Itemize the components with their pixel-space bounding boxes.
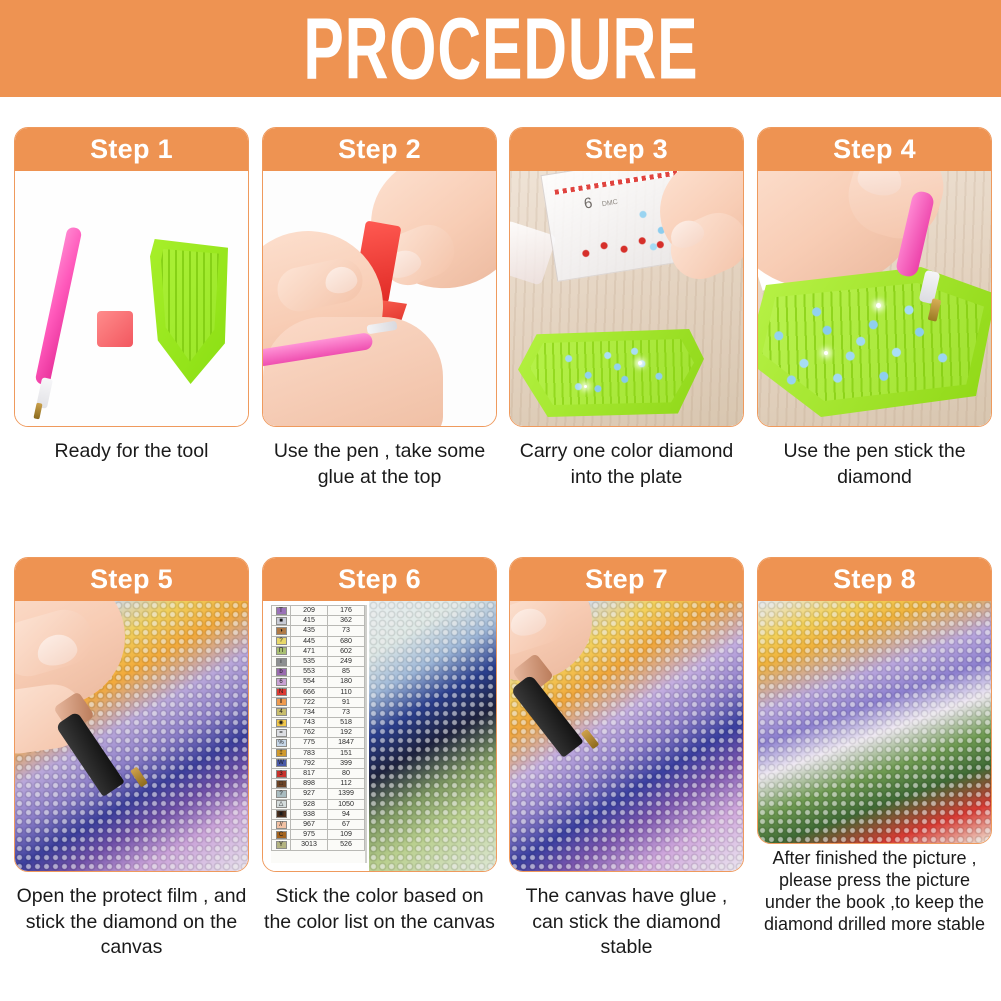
- color-swatch-icon: △: [276, 800, 287, 808]
- color-chart-body: T209176■415362◑43573?445680Π471602ı53524…: [272, 606, 365, 851]
- procedure-infographic: PROCEDURE Step 1: [0, 0, 1001, 1001]
- color-swatch-icon: ?: [276, 790, 287, 798]
- color-chart-row: ‖72291: [272, 697, 365, 707]
- color-chart-row: b55385: [272, 667, 365, 677]
- step-7-frame: Step 7: [509, 557, 744, 872]
- color-chart-row: Y3013526: [272, 840, 365, 850]
- color-chart-code-cell: 928: [291, 799, 328, 809]
- color-chart-count-cell: 91: [328, 697, 365, 707]
- step-6-header-label: Step 6: [338, 564, 421, 595]
- color-swatch-icon: ?: [276, 637, 287, 645]
- step-1-caption: Ready for the tool: [14, 439, 249, 465]
- color-chart-code-cell: 535: [291, 656, 328, 666]
- color-chart-code-cell: 666: [291, 687, 328, 697]
- color-chart-symbol-cell: Y: [272, 840, 291, 850]
- step-card-6: Step 6 T209176■415362◑43573?445680Π47160…: [262, 557, 497, 935]
- color-chart-code-cell: 775: [291, 738, 328, 748]
- color-chart-count-cell: 67: [328, 819, 365, 829]
- step-5-header-label: Step 5: [90, 564, 173, 595]
- color-chart-row: ?445680: [272, 636, 365, 646]
- color-chart-code-cell: 817: [291, 769, 328, 779]
- color-chart-row: T209176: [272, 606, 365, 616]
- color-chart-row: 473473: [272, 707, 365, 717]
- color-chart-symbol-cell: ■: [272, 616, 291, 626]
- color-chart-symbol-cell: ?: [272, 636, 291, 646]
- step-3-caption: Carry one color diamond into the plate: [509, 439, 744, 490]
- diamond-canvas-icon: [369, 601, 496, 871]
- color-chart-code-cell: 975: [291, 830, 328, 840]
- step-8-frame: Step 8: [757, 557, 992, 844]
- color-chart-count-cell: 73: [328, 626, 365, 636]
- step-2-caption: Use the pen , take some glue at the top: [262, 439, 497, 490]
- color-swatch-icon: ◉: [276, 719, 287, 727]
- color-chart-count-cell: 362: [328, 616, 365, 626]
- color-chart-symbol-cell: //: [272, 819, 291, 829]
- color-chart-symbol-cell: b: [272, 667, 291, 677]
- left-palm-icon: [263, 317, 443, 426]
- step-card-3: Step 3 6 DMC: [509, 127, 744, 490]
- color-chart-symbol-cell: ◑: [272, 626, 291, 636]
- color-chart-code-cell: 3013: [291, 840, 328, 850]
- color-chart-code-cell: 722: [291, 697, 328, 707]
- color-chart-count-cell: 94: [328, 809, 365, 819]
- color-swatch-icon: 6: [276, 678, 287, 686]
- color-swatch-icon: □: [276, 780, 287, 788]
- color-chart-row: //96767: [272, 819, 365, 829]
- color-chart-count-cell: 249: [328, 656, 365, 666]
- step-5-caption: Open the protect film , and stick the di…: [14, 884, 249, 961]
- color-chart-count-cell: 518: [328, 718, 365, 728]
- color-swatch-icon: ‡: [276, 749, 287, 757]
- color-chart-code-cell: 734: [291, 707, 328, 717]
- color-chart-row: 381780: [272, 769, 365, 779]
- color-chart-code-cell: 783: [291, 748, 328, 758]
- color-chart-symbol-cell: Π: [272, 646, 291, 656]
- step-1-photo: [15, 171, 248, 426]
- pink-pen-icon: [35, 226, 83, 386]
- color-swatch-icon: 4: [276, 708, 287, 716]
- color-chart-symbol-cell: =: [272, 728, 291, 738]
- color-chart: T209176■415362◑43573?445680Π471602ı53524…: [271, 605, 367, 863]
- step-8-header-label: Step 8: [833, 564, 916, 595]
- color-chart-code-cell: 898: [291, 779, 328, 789]
- color-chart-symbol-cell: ı: [272, 656, 291, 666]
- color-chart-count-cell: 399: [328, 758, 365, 768]
- color-chart-symbol-cell: 3: [272, 769, 291, 779]
- step-2-frame: Step 2: [262, 127, 497, 427]
- partial-canvas-icon: [369, 601, 496, 871]
- page-title: PROCEDURE: [303, 0, 698, 99]
- step-7-header-label: Step 7: [585, 564, 668, 595]
- color-chart-row: %7751847: [272, 738, 365, 748]
- color-swatch-icon: ‖: [276, 698, 287, 706]
- color-chart-code-cell: 762: [291, 728, 328, 738]
- blue-diamonds-icon: [762, 299, 972, 391]
- color-chart-row: ◉743518: [272, 718, 365, 728]
- step-1-header: Step 1: [15, 128, 248, 171]
- step-card-7: Step 7 The canvas have glue , can stick …: [509, 557, 744, 961]
- color-chart-symbol-cell: %: [272, 738, 291, 748]
- step-8-header: Step 8: [758, 558, 991, 601]
- step-1-frame: Step 1: [14, 127, 249, 427]
- color-chart-code-cell: 967: [291, 819, 328, 829]
- steps-grid: Step 1 Ready for the tool: [0, 97, 1001, 1001]
- color-swatch-icon: ■: [276, 617, 287, 625]
- sparkle-icon: [876, 303, 881, 308]
- color-chart-row: ı535249: [272, 656, 365, 666]
- color-swatch-icon: Π: [276, 647, 287, 655]
- color-chart-count-cell: 151: [328, 748, 365, 758]
- step-3-frame: Step 3 6 DMC: [509, 127, 744, 427]
- wax-square-icon: [97, 311, 133, 347]
- color-chart-count-cell: 192: [328, 728, 365, 738]
- color-chart-symbol-cell: W: [272, 758, 291, 768]
- color-swatch-icon: 3: [276, 770, 287, 778]
- color-chart-row: 6554180: [272, 677, 365, 687]
- step-7-header: Step 7: [510, 558, 743, 601]
- color-chart-code-cell: 938: [291, 809, 328, 819]
- step-2-header-label: Step 2: [338, 134, 421, 165]
- color-chart-row: W792399: [272, 758, 365, 768]
- step-7-caption: The canvas have glue , can stick the dia…: [509, 884, 744, 961]
- color-chart-symbol-cell: □: [272, 779, 291, 789]
- step-5-photo: [15, 601, 248, 871]
- color-chart-symbol-cell: ?: [272, 789, 291, 799]
- step-3-header: Step 3: [510, 128, 743, 171]
- color-swatch-icon: //: [276, 821, 287, 829]
- step-card-8: Step 8 After finished the picture , plea…: [757, 557, 992, 936]
- step-8-caption: After finished the picture , please pres…: [757, 848, 992, 936]
- step-1-header-label: Step 1: [90, 134, 173, 165]
- step-card-2: Step 2: [262, 127, 497, 490]
- color-chart-code-cell: 435: [291, 626, 328, 636]
- step-3-photo: 6 DMC: [510, 171, 743, 426]
- color-chart-count-cell: 73: [328, 707, 365, 717]
- color-chart-symbol-cell: N: [272, 687, 291, 697]
- color-chart-symbol-cell: C: [272, 830, 291, 840]
- color-chart-symbol-cell: 4: [272, 707, 291, 717]
- color-chart-row: ◑43573: [272, 626, 365, 636]
- color-chart-count-cell: 1050: [328, 799, 365, 809]
- color-chart-symbol-cell: ◉: [272, 718, 291, 728]
- step-card-5: Step 5 Open the protect film , and stick…: [14, 557, 249, 961]
- color-chart-count-cell: 526: [328, 840, 365, 850]
- color-chart-count-cell: 180: [328, 677, 365, 687]
- color-chart-count-cell: 109: [328, 830, 365, 840]
- color-chart-row: ?9271399: [272, 789, 365, 799]
- color-swatch-icon: C: [276, 831, 287, 839]
- color-chart-table: T209176■415362◑43573?445680Π471602ı53524…: [271, 605, 365, 851]
- color-chart-code-cell: 445: [291, 636, 328, 646]
- step-card-4: Step 4: [757, 127, 992, 490]
- color-chart-code-cell: 471: [291, 646, 328, 656]
- color-chart-count-cell: 112: [328, 779, 365, 789]
- step-4-header-label: Step 4: [833, 134, 916, 165]
- color-chart-symbol-cell: 6: [272, 677, 291, 687]
- color-chart-row: □898112: [272, 779, 365, 789]
- color-chart-row: ‡783151: [272, 748, 365, 758]
- blue-diamonds-icon: [554, 343, 676, 395]
- color-chart-row: △9281050: [272, 799, 365, 809]
- color-chart-count-cell: 176: [328, 606, 365, 616]
- color-chart-code-cell: 209: [291, 606, 328, 616]
- color-chart-count-cell: 1847: [328, 738, 365, 748]
- color-chart-count-cell: 85: [328, 667, 365, 677]
- color-chart-symbol-cell: T: [272, 606, 291, 616]
- color-chart-row: ■415362: [272, 616, 365, 626]
- color-chart-count-cell: 602: [328, 646, 365, 656]
- step-2-header: Step 2: [263, 128, 496, 171]
- color-swatch-icon: W: [276, 759, 287, 767]
- sparkle-icon: [638, 361, 642, 365]
- step-4-photo: [758, 171, 991, 426]
- color-chart-code-cell: 792: [291, 758, 328, 768]
- step-6-photo: T209176■415362◑43573?445680Π471602ı53524…: [263, 601, 496, 871]
- color-chart-code-cell: 554: [291, 677, 328, 687]
- color-chart-count-cell: 1399: [328, 789, 365, 799]
- color-chart-row: ▣93894: [272, 809, 365, 819]
- sparkle-icon: [584, 385, 587, 388]
- step-7-photo: [510, 601, 743, 871]
- color-swatch-icon: T: [276, 607, 287, 615]
- finished-diamond-painting-icon: [758, 601, 991, 843]
- color-swatch-icon: N: [276, 688, 287, 696]
- color-chart-count-cell: 80: [328, 769, 365, 779]
- color-swatch-icon: %: [276, 739, 287, 747]
- step-4-frame: Step 4: [757, 127, 992, 427]
- step-4-header: Step 4: [758, 128, 991, 171]
- color-chart-symbol-cell: △: [272, 799, 291, 809]
- color-chart-row: N666110: [272, 687, 365, 697]
- color-chart-symbol-cell: ▣: [272, 809, 291, 819]
- step-2-photo: [263, 171, 496, 426]
- sparkle-icon: [824, 351, 828, 355]
- pen-metal-tip-icon: [33, 403, 42, 420]
- color-swatch-icon: ◑: [276, 627, 287, 635]
- color-chart-code-cell: 743: [291, 718, 328, 728]
- color-chart-symbol-cell: ‖: [272, 697, 291, 707]
- color-chart-code-cell: 553: [291, 667, 328, 677]
- color-chart-row: Π471602: [272, 646, 365, 656]
- step-5-frame: Step 5: [14, 557, 249, 872]
- step-6-header: Step 6: [263, 558, 496, 601]
- color-chart-symbol-cell: ‡: [272, 748, 291, 758]
- color-chart-count-cell: 680: [328, 636, 365, 646]
- color-chart-count-cell: 110: [328, 687, 365, 697]
- color-swatch-icon: Y: [276, 841, 287, 849]
- step-5-header: Step 5: [15, 558, 248, 601]
- step-8-photo: [758, 601, 991, 843]
- color-chart-code-cell: 415: [291, 616, 328, 626]
- step-6-caption: Stick the color based on the color list …: [262, 884, 497, 935]
- color-chart-code-cell: 927: [291, 789, 328, 799]
- color-swatch-icon: b: [276, 668, 287, 676]
- color-swatch-icon: ▣: [276, 810, 287, 818]
- step-6-frame: Step 6 T209176■415362◑43573?445680Π47160…: [262, 557, 497, 872]
- step-card-1: Step 1 Ready for the tool: [14, 127, 249, 465]
- step-4-caption: Use the pen stick the diamond: [757, 439, 992, 490]
- color-chart-row: C975109: [272, 830, 365, 840]
- color-swatch-icon: ı: [276, 658, 287, 666]
- page-banner: PROCEDURE: [0, 0, 1001, 97]
- color-chart-row: =762192: [272, 728, 365, 738]
- step-3-header-label: Step 3: [585, 134, 668, 165]
- color-swatch-icon: =: [276, 729, 287, 737]
